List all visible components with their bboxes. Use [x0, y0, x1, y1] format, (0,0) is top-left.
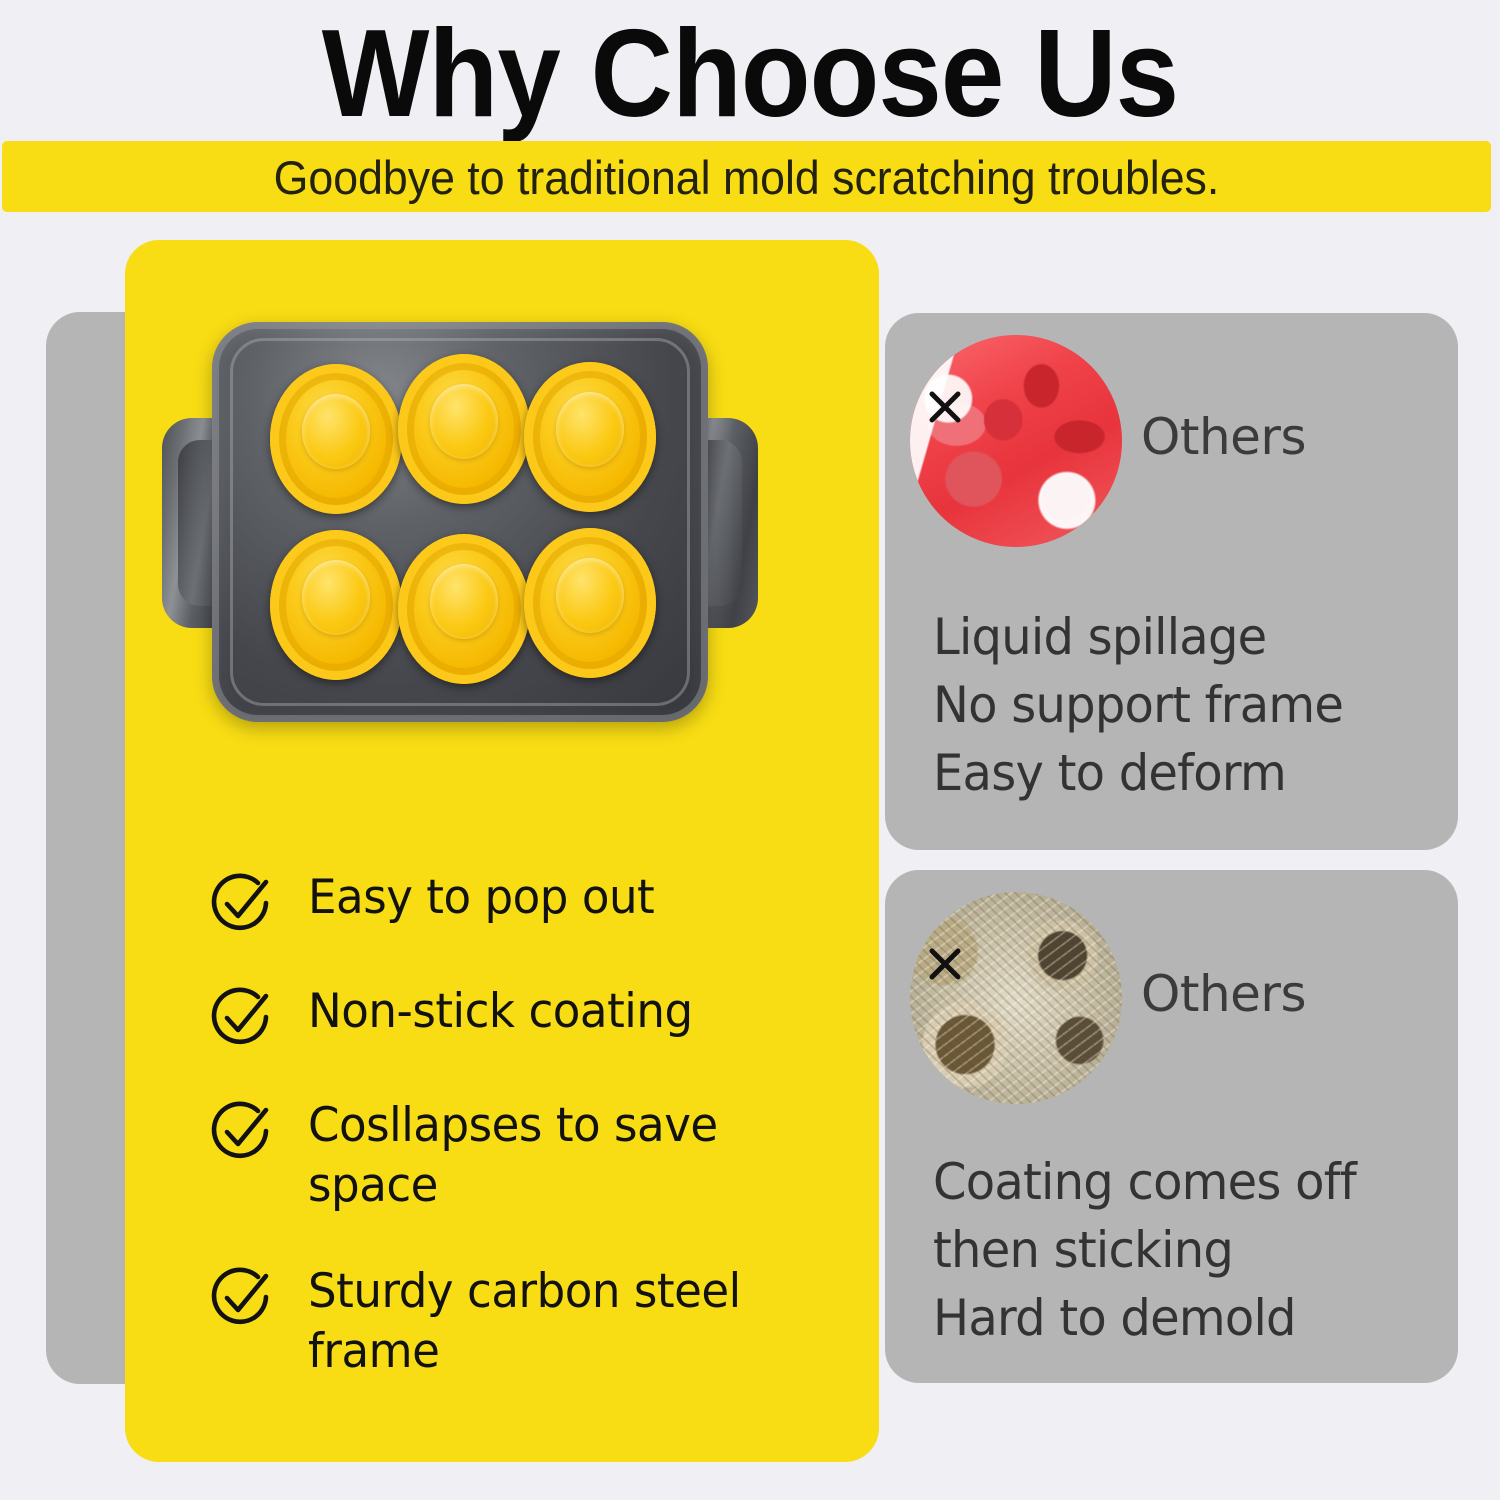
product-photo	[160, 322, 760, 722]
others-drawback-list: Coating comes off then sticking Hard to …	[933, 1148, 1436, 1352]
feature-label: Cosllapses to save space	[308, 1096, 788, 1216]
others-label: Others	[1141, 409, 1306, 465]
subtitle-banner: Goodbye to traditional mold scratching t…	[2, 141, 1491, 212]
muffin-cup	[524, 528, 656, 678]
check-circle-icon	[208, 870, 274, 936]
product-highlight-card: Easy to pop out Non-stick coating Coslla…	[125, 240, 879, 1462]
header: Why Choose Us Goodbye to traditional mol…	[0, 0, 1500, 215]
others-drawback-line: No support frame	[933, 671, 1416, 739]
feature-list: Easy to pop out Non-stick coating Coslla…	[208, 868, 848, 1428]
page-title: Why Choose Us	[60, 6, 1440, 142]
subtitle-text: Goodbye to traditional mold scratching t…	[39, 141, 1454, 212]
others-comparison-card-2: Others Coating comes off then sticking H…	[885, 870, 1458, 1383]
feature-item: Sturdy carbon steel frame	[208, 1262, 848, 1382]
others-comparison-card-1: Others Liquid spillage No support frame …	[885, 313, 1458, 850]
feature-label: Easy to pop out	[308, 868, 654, 928]
x-mark-icon	[925, 944, 965, 984]
others-drawback-line: Easy to deform	[933, 739, 1416, 807]
others-drawback-line: Liquid spillage	[933, 603, 1416, 671]
feature-label: Non-stick coating	[308, 982, 693, 1042]
muffin-cup	[270, 364, 402, 514]
check-circle-icon	[208, 984, 274, 1050]
x-mark-icon	[925, 387, 965, 427]
muffin-cup	[398, 354, 530, 504]
others-drawback-list: Liquid spillage No support frame Easy to…	[933, 603, 1436, 807]
feature-item: Non-stick coating	[208, 982, 848, 1050]
feature-label: Sturdy carbon steel frame	[308, 1262, 807, 1382]
others-card-header: Others	[885, 870, 1458, 1102]
others-card-header: Others	[885, 313, 1458, 545]
muffin-cup	[398, 534, 530, 684]
feature-item: Cosllapses to save space	[208, 1096, 848, 1216]
others-drawback-line: Coating comes off	[933, 1148, 1416, 1216]
feature-item: Easy to pop out	[208, 868, 848, 936]
others-label: Others	[1141, 966, 1306, 1022]
worn-muffin-pan-photo	[910, 892, 1122, 1104]
check-circle-icon	[208, 1098, 274, 1164]
others-drawback-line: then sticking	[933, 1216, 1416, 1284]
muffin-cup	[524, 362, 656, 512]
pan-body	[212, 322, 708, 722]
red-silicone-mold-photo	[910, 335, 1122, 547]
muffin-cup	[270, 530, 402, 680]
others-drawback-line: Hard to demold	[933, 1284, 1416, 1352]
check-circle-icon	[208, 1264, 274, 1330]
